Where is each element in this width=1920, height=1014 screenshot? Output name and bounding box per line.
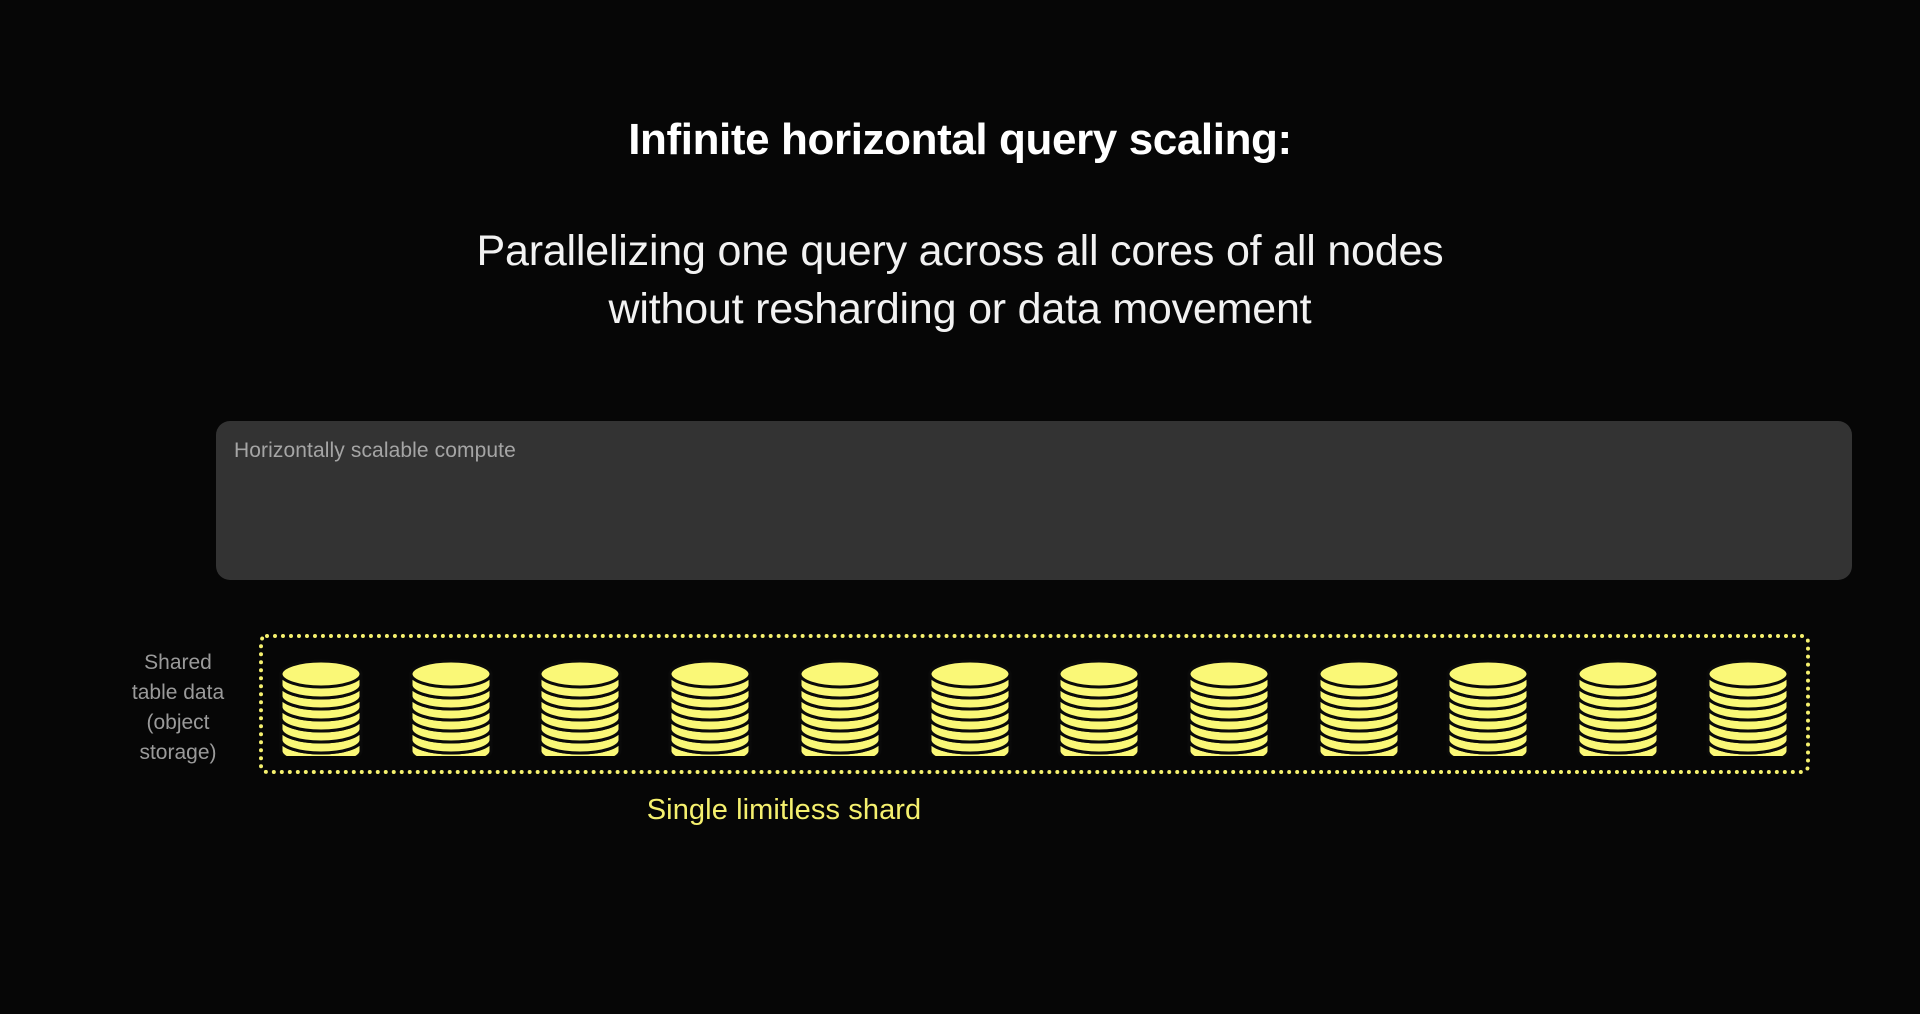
compute-panel-label: Horizontally scalable compute bbox=[234, 439, 516, 463]
disk-stack-icon bbox=[1311, 652, 1407, 756]
shard-caption: Single limitless shard bbox=[259, 794, 1309, 827]
slide-canvas: Infinite horizontal query scaling: Paral… bbox=[0, 0, 1920, 1014]
disk-stack-icon bbox=[532, 652, 628, 756]
storage-side-label-line-2: table data bbox=[116, 678, 240, 708]
storage-side-label-line-4: storage) bbox=[116, 738, 240, 768]
page-title: Infinite horizontal query scaling: bbox=[0, 116, 1920, 164]
disk-stack-icon bbox=[1570, 652, 1666, 756]
page-subtitle-line-2: without resharding or data movement bbox=[0, 280, 1920, 338]
page-subtitle-line-1: Parallelizing one query across all cores… bbox=[0, 222, 1920, 280]
disk-stack-icon bbox=[1051, 652, 1147, 756]
disk-stack-row bbox=[263, 638, 1806, 770]
storage-side-label-line-1: Shared bbox=[116, 648, 240, 678]
disk-stack-icon bbox=[403, 652, 499, 756]
disk-stack-icon bbox=[273, 652, 369, 756]
storage-side-label-line-3: (object bbox=[116, 708, 240, 738]
disk-stack-icon bbox=[1700, 652, 1796, 756]
compute-panel: Horizontally scalable compute bbox=[216, 421, 1852, 580]
page-subtitle: Parallelizing one query across all cores… bbox=[0, 222, 1920, 338]
single-shard-boundary bbox=[259, 634, 1810, 774]
disk-stack-icon bbox=[662, 652, 758, 756]
disk-stack-icon bbox=[792, 652, 888, 756]
storage-side-label: Shared table data (object storage) bbox=[116, 648, 240, 768]
disk-stack-icon bbox=[1181, 652, 1277, 756]
disk-stack-icon bbox=[1440, 652, 1536, 756]
disk-stack-icon bbox=[922, 652, 1018, 756]
